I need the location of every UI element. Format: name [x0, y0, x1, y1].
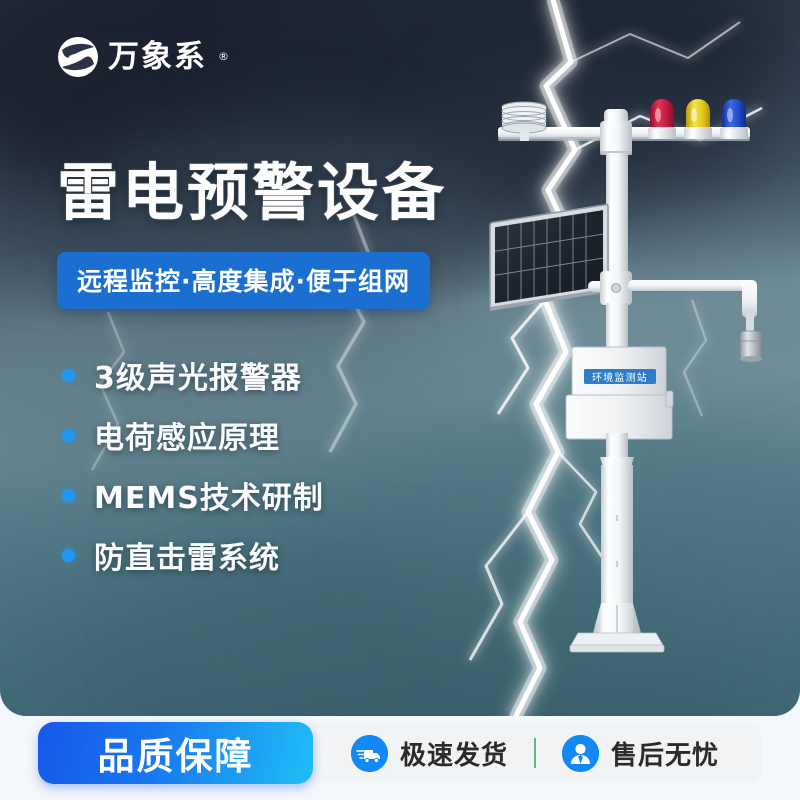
feature-label: 电荷感应原理 — [94, 413, 280, 457]
feature-label: MEMS技术研制 — [94, 473, 324, 517]
control-box: 环境监测站 — [566, 347, 673, 439]
swirl-globe-logo-icon — [57, 36, 99, 78]
list-item: 防直击雷系统 — [62, 525, 324, 585]
quality-badge: 品质保障 — [38, 722, 313, 784]
trust-bar: 极速发货 售后无忧 品质保障 — [38, 722, 762, 784]
list-item: MEMS技术研制 — [62, 465, 324, 525]
service-item-shipping: 极速发货 — [351, 735, 508, 772]
feature-label: 防直击雷系统 — [94, 533, 280, 577]
brand-logo: 万象系 ® — [57, 36, 216, 78]
divider — [534, 738, 536, 768]
list-item: 3级声光报警器 — [62, 345, 324, 405]
delivery-truck-icon — [351, 735, 388, 772]
control-box-label: 环境监测站 — [592, 371, 648, 384]
service-item-aftersales: 售后无忧 — [562, 735, 719, 772]
bullet-dot-icon — [62, 489, 75, 502]
alarm-lamp-red — [648, 99, 676, 139]
service-label: 极速发货 — [400, 735, 508, 772]
feature-label: 3级声光报警器 — [94, 353, 302, 397]
base-plate — [570, 603, 664, 652]
customer-service-icon — [562, 735, 599, 772]
brand-name: 万象系 — [108, 42, 207, 73]
solar-panel — [490, 204, 608, 311]
service-label: 售后无忧 — [611, 735, 719, 772]
alarm-lamp-blue — [720, 99, 748, 139]
bullet-dot-icon — [62, 369, 75, 382]
bullet-dot-icon — [62, 429, 75, 442]
alarm-lamp-yellow — [684, 99, 712, 139]
bullet-dot-icon — [62, 549, 75, 562]
pole-mid-collar — [600, 271, 632, 305]
subtitle-badge: 远程监控·高度集成·便于组网 — [57, 252, 430, 309]
list-item: 电荷感应原理 — [62, 405, 324, 465]
hero-banner: 环境监测站 — [0, 0, 800, 716]
feature-list: 3级声光报警器 电荷感应原理 MEMS技术研制 防直击雷系统 — [62, 345, 324, 585]
page-title: 雷电预警设备 — [57, 160, 447, 225]
registered-trademark-icon: ® — [218, 51, 229, 62]
product-image: 环境监测站 — [470, 95, 790, 695]
quality-badge-label: 品质保障 — [98, 726, 254, 780]
service-tray: 极速发货 售后无忧 — [293, 724, 762, 782]
